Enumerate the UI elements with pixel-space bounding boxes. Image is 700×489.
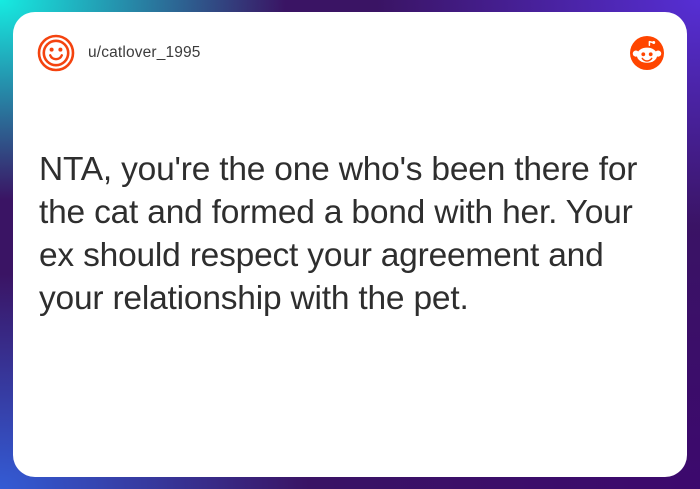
reddit-snoo-icon[interactable] <box>629 35 665 71</box>
comment-text: NTA, you're the one who's been there for… <box>39 148 661 320</box>
card-header: u/catlover_1995 <box>13 12 687 94</box>
screenshot-root: u/catlover_1995 NTA, you're the on <box>0 0 700 489</box>
reddit-comment-card: u/catlover_1995 NTA, you're the on <box>13 12 687 477</box>
author-block[interactable]: u/catlover_1995 <box>37 34 629 72</box>
card-body: NTA, you're the one who's been there for… <box>39 148 661 320</box>
author-username: u/catlover_1995 <box>88 44 201 62</box>
smiley-face-avatar-icon[interactable] <box>37 34 75 72</box>
